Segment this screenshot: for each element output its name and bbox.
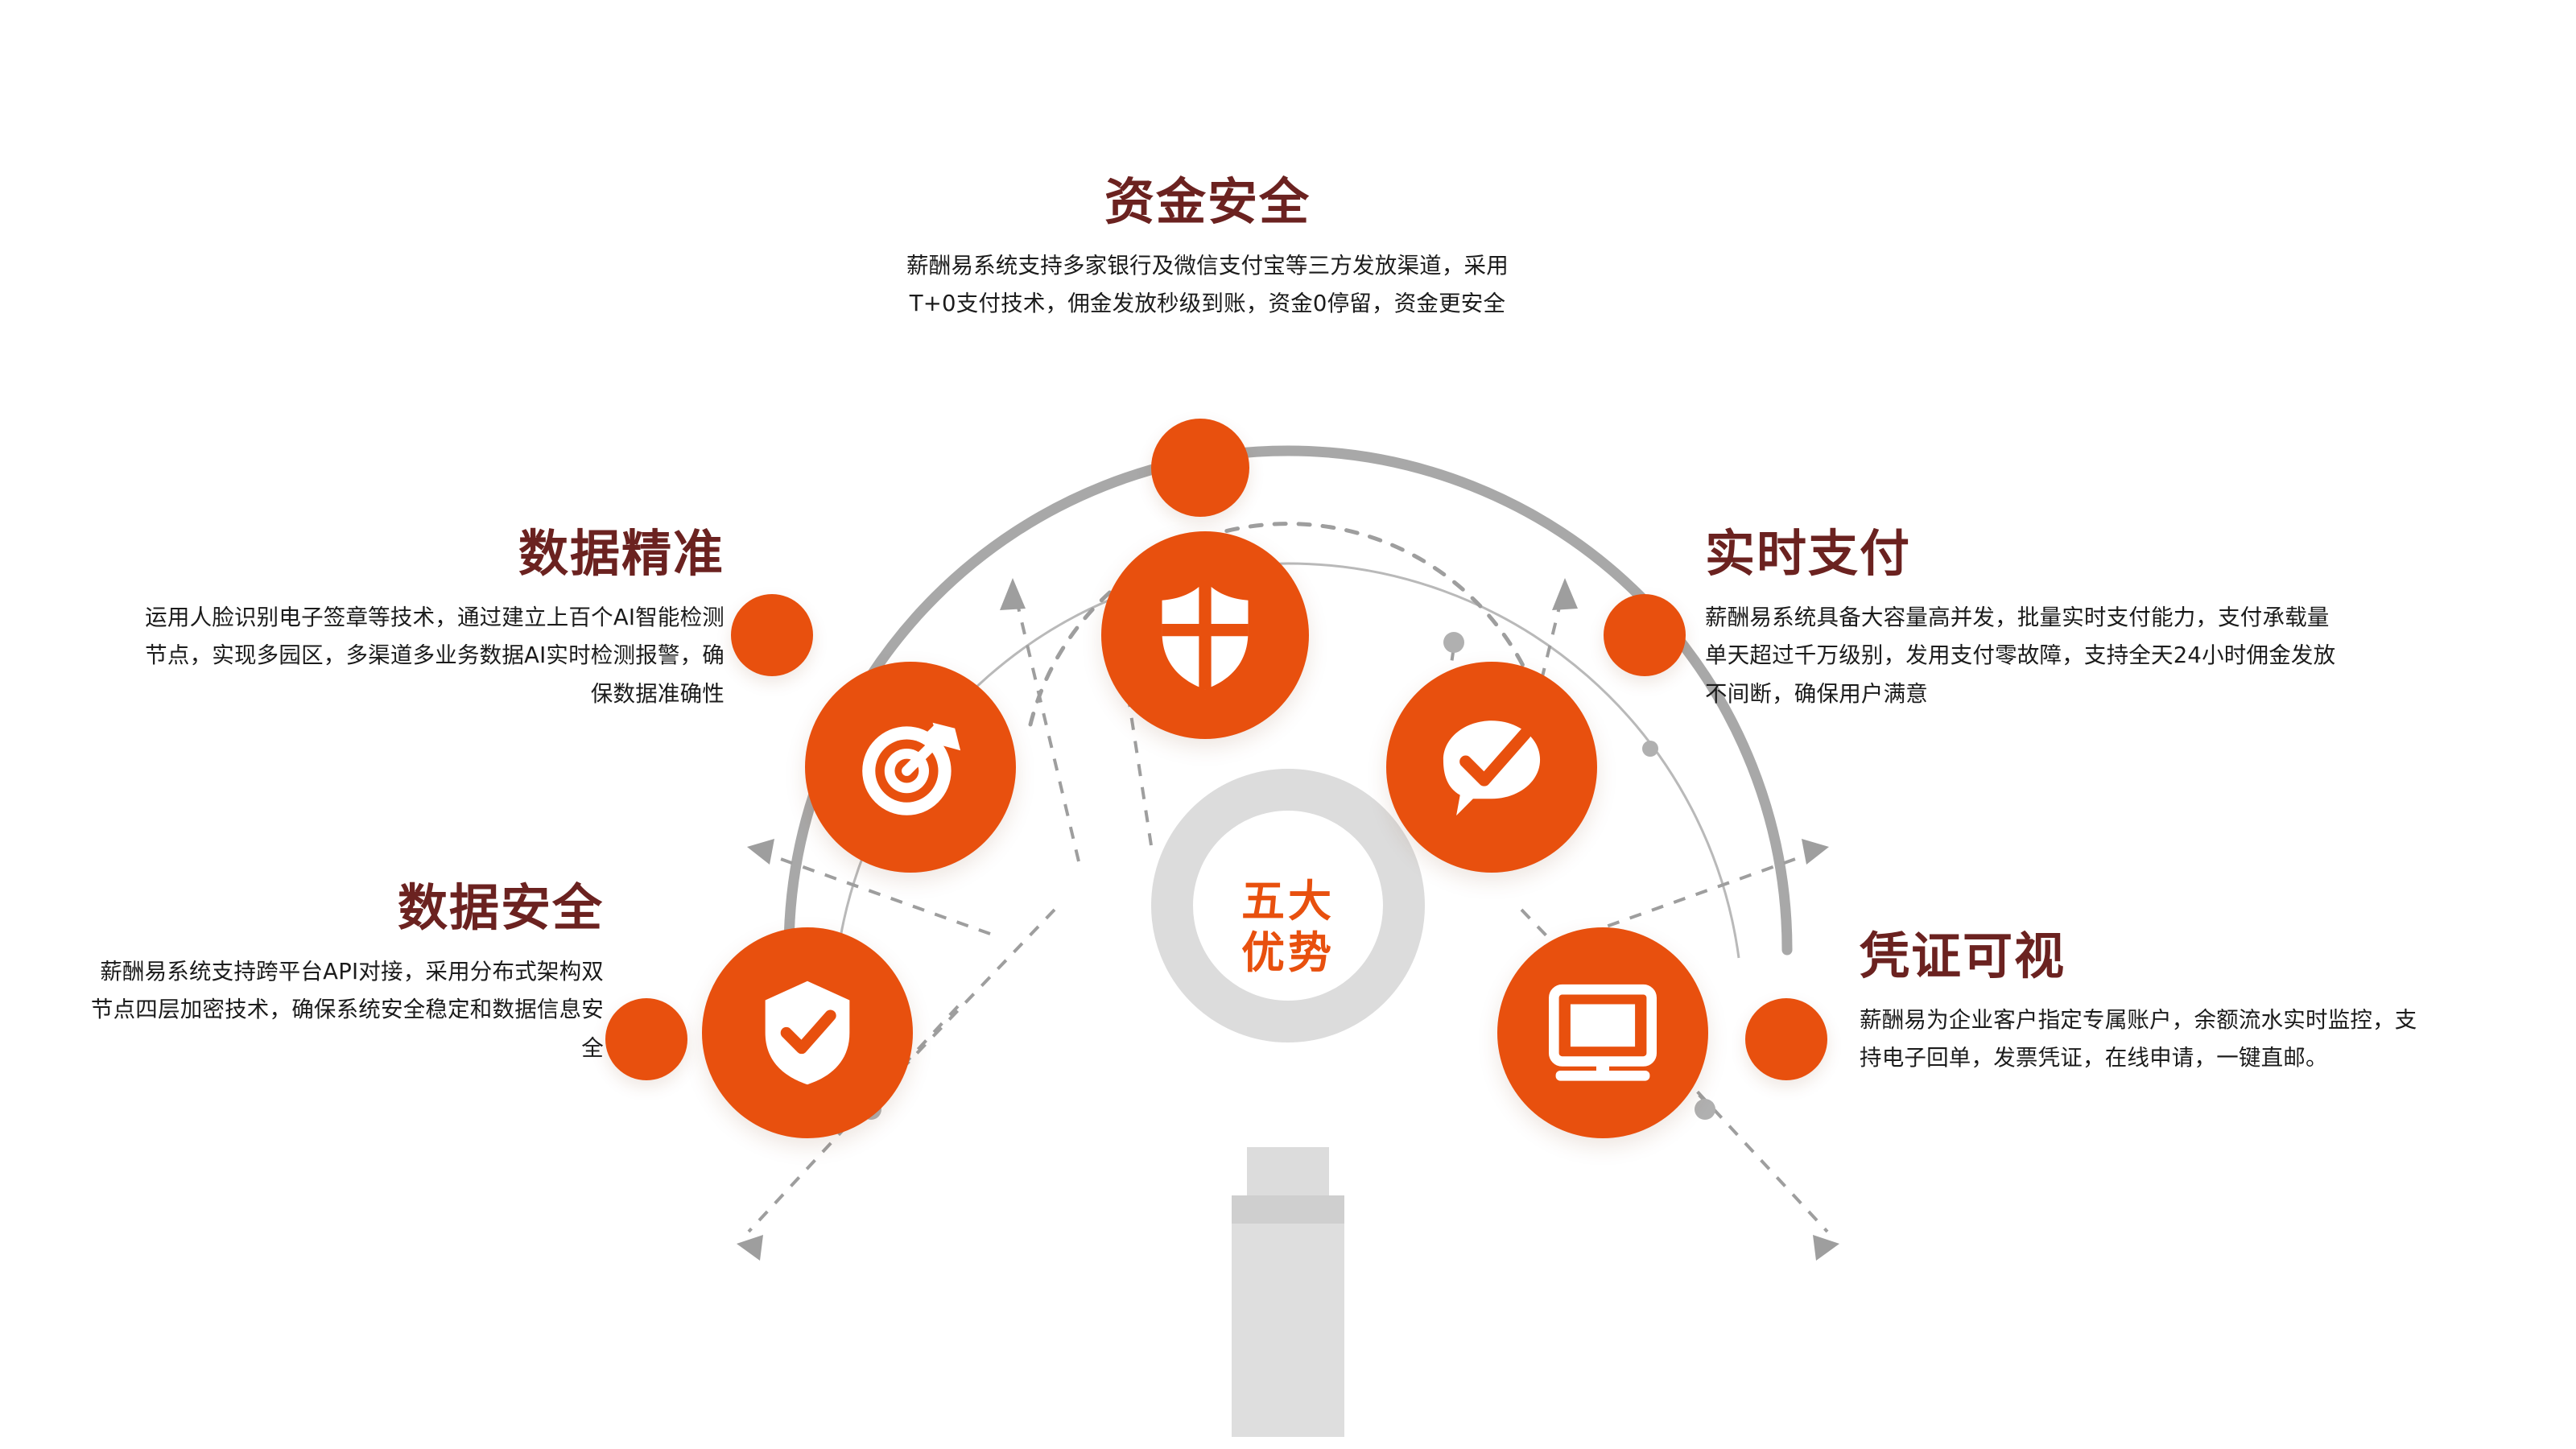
feature-body-data-security: 薪酬易系统支持跨平台API对接，采用分布式架构双节点四层加密技术，确保系统安全稳…: [80, 953, 604, 1067]
feature-title-data-security: 数据安全: [80, 881, 604, 935]
speech-check-icon: [1435, 713, 1548, 821]
icon-bubble-realtime-payment[interactable]: [1386, 662, 1597, 873]
feature-block-data-accuracy: 数据精准 运用人脸识别电子签章等技术，通过建立上百个AI智能检测节点，实现多园区…: [129, 527, 724, 713]
feature-block-realtime-payment: 实时支付 薪酬易系统具备大容量高并发，批量实时支付能力，支付承载量单天超过千万级…: [1705, 527, 2341, 713]
feature-block-data-security: 数据安全 薪酬易系统支持跨平台API对接，采用分布式架构双节点四层加密技术，确保…: [80, 881, 604, 1067]
magnifier-handle-band: [1232, 1195, 1344, 1224]
feature-title-realtime-payment: 实时支付: [1705, 527, 2341, 581]
cross-shield-icon: [1154, 579, 1257, 691]
magnifier-handle-shaft: [1232, 1195, 1344, 1437]
feature-title-funds-security: 资金安全: [902, 175, 1513, 229]
center-label-line2: 优势: [1158, 927, 1418, 979]
accent-dot-upper-left: [731, 594, 813, 676]
feature-block-voucher-visible: 凭证可视 薪酬易为企业客户指定专属账户，余额流水实时监控，支持电子回单，发票凭证…: [1860, 930, 2423, 1078]
feature-body-realtime-payment: 薪酬易系统具备大容量高并发，批量实时支付能力，支付承载量单天超过千万级别，发用支…: [1705, 599, 2341, 713]
icon-bubble-data-accuracy[interactable]: [805, 662, 1016, 873]
feature-title-voucher-visible: 凭证可视: [1860, 930, 2423, 984]
center-label: 五大 优势: [1158, 876, 1418, 978]
center-label-line1: 五大: [1158, 876, 1418, 927]
feature-body-voucher-visible: 薪酬易为企业客户指定专属账户，余额流水实时监控，支持电子回单，发票凭证，在线申请…: [1860, 1001, 2423, 1078]
icon-bubble-funds-security[interactable]: [1101, 531, 1309, 739]
monitor-icon: [1544, 982, 1662, 1084]
infographic-stage: 五大 优势: [0, 0, 2576, 1449]
feature-body-funds-security: 薪酬易系统支持多家银行及微信支付宝等三方发放渠道，采用T+0支付技术，佣金发放秒…: [902, 247, 1513, 324]
accent-dot-lower-right: [1745, 998, 1827, 1080]
feature-block-funds-security: 资金安全 薪酬易系统支持多家银行及微信支付宝等三方发放渠道，采用T+0支付技术，…: [902, 175, 1513, 324]
shield-check-icon: [759, 977, 856, 1088]
accent-dot-top: [1151, 419, 1249, 517]
accent-dot-upper-right: [1604, 594, 1686, 676]
icon-bubble-data-security[interactable]: [702, 927, 913, 1138]
accent-dot-lower-left: [605, 998, 687, 1080]
icon-bubble-voucher-visible[interactable]: [1497, 927, 1708, 1138]
feature-body-data-accuracy: 运用人脸识别电子签章等技术，通过建立上百个AI智能检测节点，实现多园区，多渠道多…: [129, 599, 724, 713]
target-dart-icon: [855, 712, 966, 823]
feature-title-data-accuracy: 数据精准: [129, 527, 724, 581]
magnifier-graphic: [1151, 769, 1425, 1449]
